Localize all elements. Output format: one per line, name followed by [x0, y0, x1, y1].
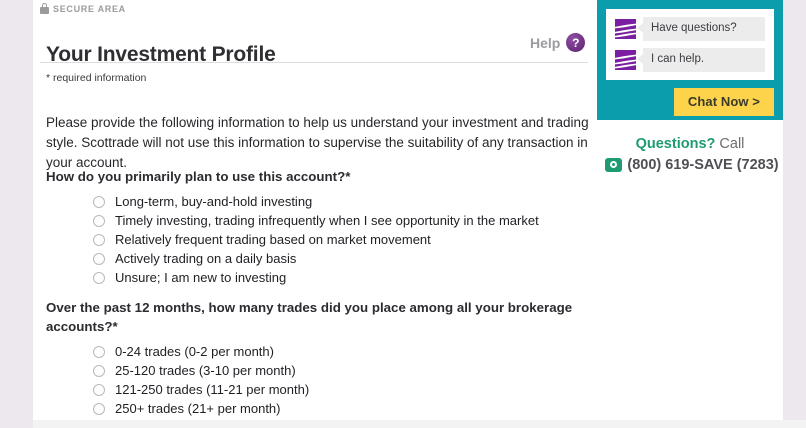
chat-widget[interactable]: Have questions? I can help. Chat Now >	[597, 0, 783, 120]
chat-message-text: I can help.	[643, 48, 765, 72]
question-title: Over the past 12 months, how many trades…	[46, 298, 591, 336]
radio-option-row[interactable]: 250+ trades (21+ per month)	[46, 399, 591, 418]
radio-option-row[interactable]: 25-120 trades (3-10 per month)	[46, 361, 591, 380]
question-block-trade-count: Over the past 12 months, how many trades…	[46, 298, 591, 418]
radio-option-row[interactable]: Relatively frequent trading based on mar…	[46, 230, 591, 249]
chat-message: Have questions?	[615, 17, 765, 41]
scottrade-logo-icon	[615, 50, 636, 70]
phone-line: (800) 619-SAVE (7283)	[597, 157, 787, 173]
radio-button[interactable]	[93, 215, 105, 227]
option-label: Long-term, buy-and-hold investing	[115, 194, 312, 209]
option-label: 25-120 trades (3-10 per month)	[115, 363, 296, 378]
radio-button[interactable]	[93, 346, 105, 358]
title-divider	[40, 62, 588, 63]
option-label: Actively trading on a daily basis	[115, 251, 296, 266]
required-information-note: * required information	[46, 72, 146, 84]
option-label: 121-250 trades (11-21 per month)	[115, 382, 309, 397]
options-list: 0-24 trades (0-2 per month) 25-120 trade…	[46, 342, 591, 418]
question-block-account-use: How do you primarily plan to use this ac…	[46, 167, 591, 287]
phone-number: (800) 619-SAVE (7283)	[627, 157, 778, 173]
option-label: 250+ trades (21+ per month)	[115, 401, 281, 416]
radio-option-row[interactable]: Long-term, buy-and-hold investing	[46, 192, 591, 211]
radio-button[interactable]	[93, 196, 105, 208]
call-label: Call	[719, 136, 744, 152]
telephone-icon	[605, 158, 622, 172]
radio-button[interactable]	[93, 272, 105, 284]
radio-option-row[interactable]: Actively trading on a daily basis	[46, 249, 591, 268]
chat-message-card: Have questions? I can help.	[606, 9, 774, 80]
help-label: Help	[530, 35, 560, 51]
radio-button[interactable]	[93, 403, 105, 415]
question-mark-icon[interactable]: ?	[566, 33, 585, 52]
secure-area-label: SECURE AREA	[53, 4, 126, 14]
option-label: 0-24 trades (0-2 per month)	[115, 344, 274, 359]
chat-message-text: Have questions?	[643, 17, 765, 41]
secure-area-indicator: SECURE AREA	[40, 3, 126, 14]
questions-call-line: Questions? Call	[597, 136, 783, 152]
radio-button[interactable]	[93, 253, 105, 265]
lock-icon	[40, 3, 49, 14]
option-label: Unsure; I am new to investing	[115, 270, 286, 285]
radio-option-row[interactable]: Unsure; I am new to investing	[46, 268, 591, 287]
chat-message: I can help.	[615, 48, 765, 72]
page-title: Your Investment Profile	[46, 43, 276, 67]
page-root: SECURE AREA Your Investment Profile Help…	[0, 0, 806, 428]
intro-paragraph: Please provide the following information…	[46, 113, 598, 173]
option-label: Timely investing, trading infrequently w…	[115, 213, 539, 228]
scottrade-logo-icon	[615, 19, 636, 39]
radio-option-row[interactable]: Timely investing, trading infrequently w…	[46, 211, 591, 230]
radio-option-row[interactable]: 121-250 trades (11-21 per month)	[46, 380, 591, 399]
radio-button[interactable]	[93, 384, 105, 396]
chat-now-button-wrap: Chat Now >	[606, 88, 774, 116]
chat-now-button[interactable]: Chat Now >	[674, 88, 774, 116]
questions-label: Questions?	[636, 136, 716, 152]
option-label: Relatively frequent trading based on mar…	[115, 232, 431, 247]
question-title: How do you primarily plan to use this ac…	[46, 167, 591, 186]
radio-button[interactable]	[93, 365, 105, 377]
options-list: Long-term, buy-and-hold investing Timely…	[46, 192, 591, 287]
help-link[interactable]: Help ?	[530, 33, 585, 52]
radio-option-row[interactable]: 0-24 trades (0-2 per month)	[46, 342, 591, 361]
radio-button[interactable]	[93, 234, 105, 246]
bottom-strip	[33, 420, 806, 428]
